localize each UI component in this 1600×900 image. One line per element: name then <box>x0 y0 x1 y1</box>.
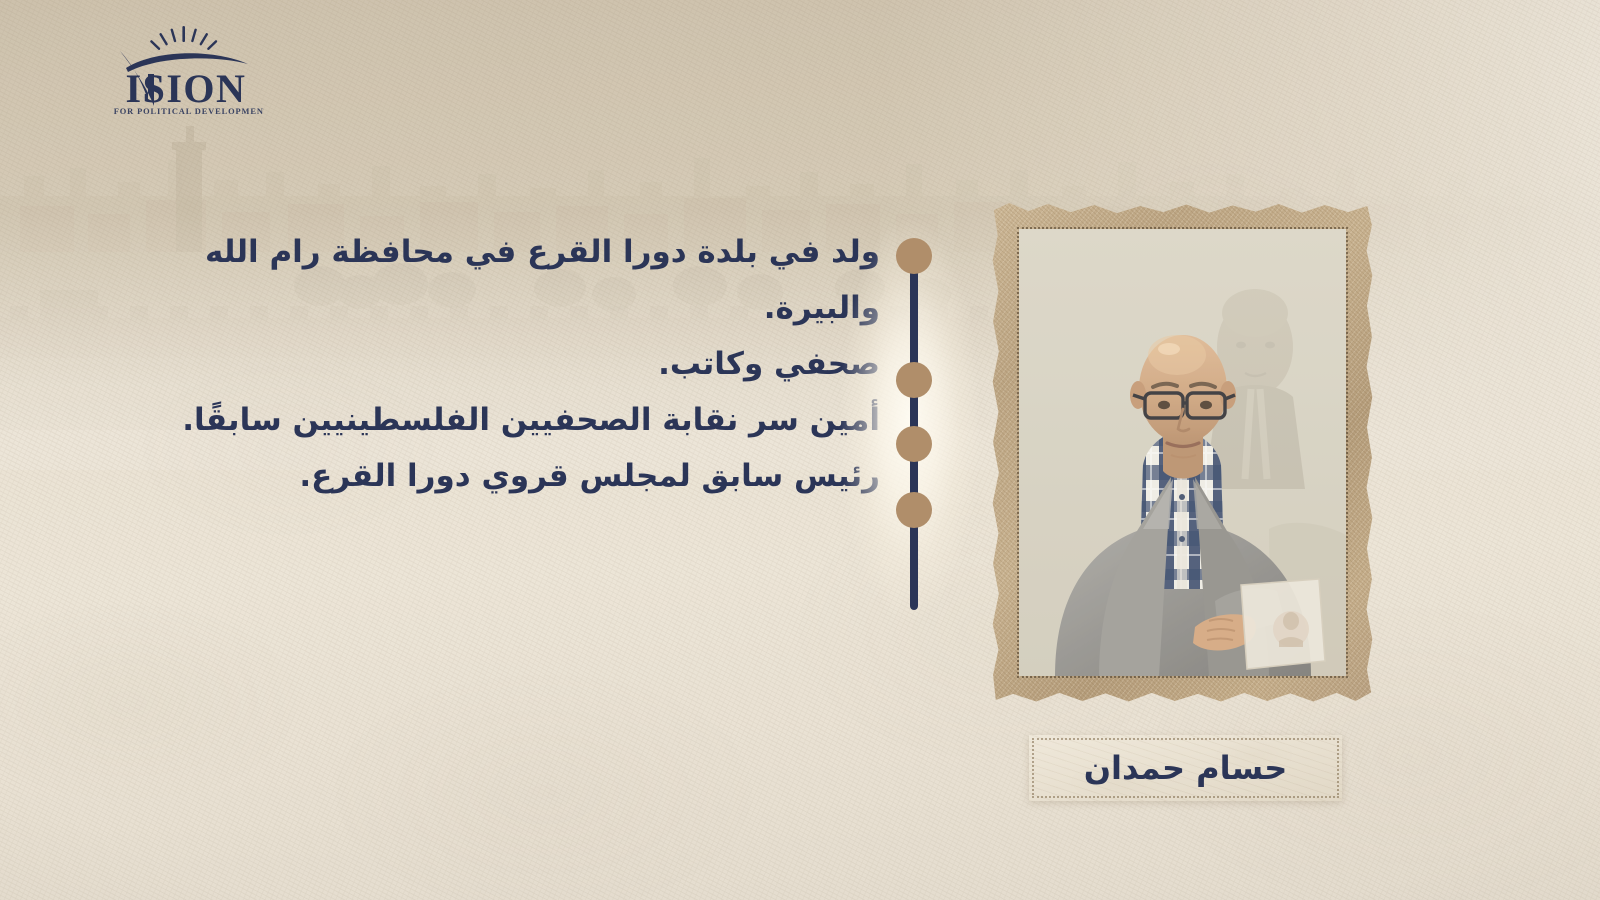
bio-line-birthplace: ولد في بلدة دورا القرع في محافظة رام الل… <box>120 224 880 336</box>
timeline-dot-1[interactable] <box>896 238 932 274</box>
bio-line-occupation: صحفي وكاتب. <box>120 336 880 392</box>
timeline-dot-4[interactable] <box>896 492 932 528</box>
portrait-frame <box>990 200 1375 705</box>
portrait-photo <box>1019 229 1346 676</box>
timeline-rail <box>896 238 932 610</box>
poster-canvas: ISION FOR POLITICAL DEVELOPMENT ولد في ب… <box>0 0 1600 900</box>
svg-text:FOR POLITICAL DEVELOPMENT: FOR POLITICAL DEVELOPMENT <box>114 107 264 116</box>
name-plate: حسام حمدان <box>1029 735 1342 801</box>
timeline-dot-3[interactable] <box>896 426 932 462</box>
timeline-dot-2[interactable] <box>896 362 932 398</box>
bio-line-union-role: أمين سر نقابة الصحفيين الفلسطينيين سابقً… <box>120 392 880 448</box>
bio-line-council-role: رئيس سابق لمجلس قروي دورا القرع. <box>120 448 880 504</box>
svg-text:ISION: ISION <box>126 66 247 111</box>
profile-name: حسام حمدان <box>1084 749 1288 787</box>
biography-list: ولد في بلدة دورا القرع في محافظة رام الل… <box>120 224 880 504</box>
vision-logo[interactable]: ISION FOR POLITICAL DEVELOPMENT <box>104 24 264 116</box>
